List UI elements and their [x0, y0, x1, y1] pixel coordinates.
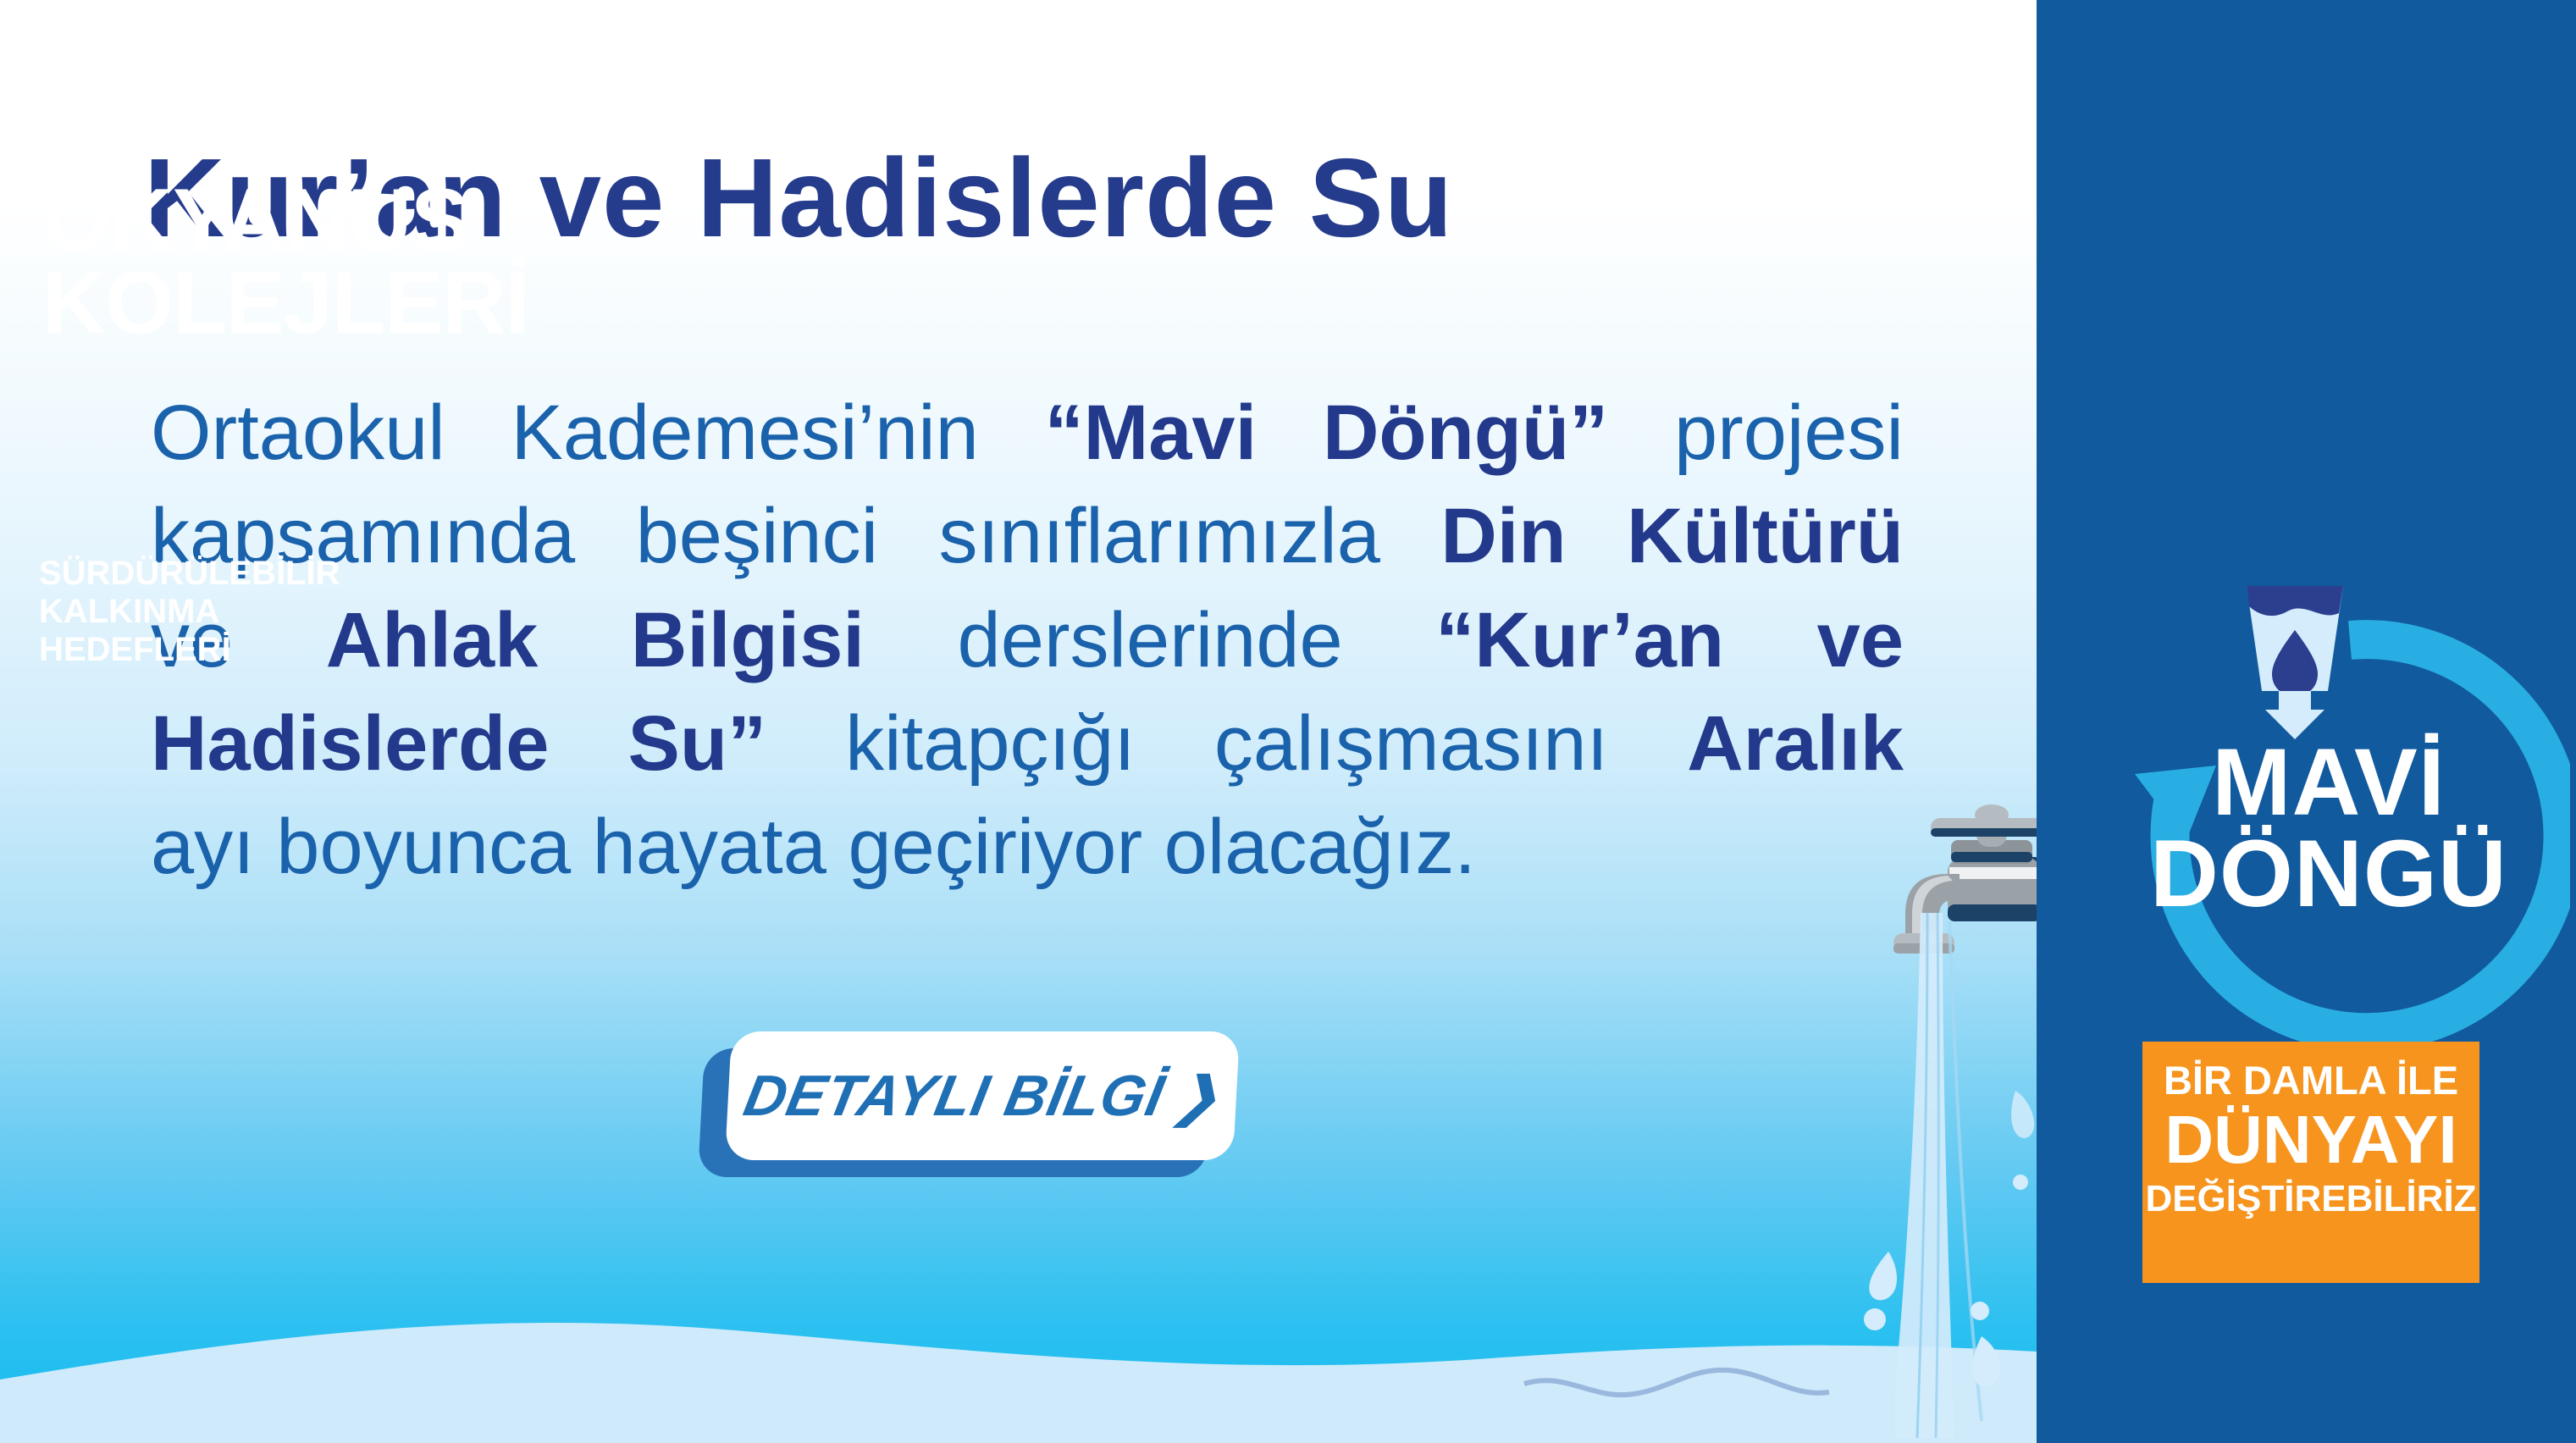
program-line-1: MAVİ — [2117, 737, 2540, 828]
slogan-line-1: BİR DAMLA İLE — [2142, 1059, 2479, 1103]
body-line-4: HadislerdeSu”kitapçığıçalışmasınıAralık — [151, 692, 1904, 795]
brand-line-2: KOLEJLERİ — [42, 263, 517, 346]
sdg-line-3: HEDEFLERİ — [39, 631, 340, 669]
slogan-badge: BİR DAMLA İLE DÜNYAYI DEĞİŞTİREBİLİRİZ — [2142, 1042, 2479, 1283]
cta-text: DETAYLI BİLGİ — [738, 1063, 1169, 1129]
sdg-line-2: KALKINMA — [39, 593, 340, 631]
chevron-right-icon: ❯ — [1169, 1065, 1225, 1127]
sdg-line-1: SÜRDÜRÜLEBİLİR — [39, 555, 340, 593]
water-stream-icon — [1855, 913, 2037, 1438]
wave-shape — [0, 1197, 2037, 1443]
description-text: OrtaokulKademesi’nin“MaviDöngü”projesi k… — [151, 381, 1904, 899]
sdg-label: SÜRDÜRÜLEBİLİR KALKINMA HEDEFLERİ — [39, 555, 340, 668]
body-line-3: veAhlakBilgisiderslerinde“Kur’anve — [151, 589, 1904, 692]
body-line-2: kapsamındabeşincisınıflarımızlaDinKültür… — [151, 484, 1904, 588]
slogan-line-3: DEĞİŞTİREBİLİRİZ — [2142, 1179, 2479, 1219]
promo-banner: Kur’an ve Hadislerde Su OrtaokulKademesi… — [0, 0, 2576, 1443]
cta-label-group: DETAYLI BİLGİ ❯ — [738, 1063, 1226, 1129]
body-line-5: ayı boyunca hayata geçiriyor olacağız. — [151, 795, 1904, 898]
program-wordmark: MAVİ DÖNGÜ — [2117, 737, 2540, 919]
cta-container: DETAYLI BİLGİ ❯ — [701, 1031, 1243, 1184]
glass-water-drop-icon — [2240, 583, 2350, 739]
body-line-1: OrtaokulKademesi’nin“MaviDöngü”projesi — [151, 381, 1904, 484]
program-line-2: DÖNGÜ — [2117, 828, 2540, 920]
detayli-bilgi-button[interactable]: DETAYLI BİLGİ ❯ — [725, 1031, 1240, 1160]
brand-logo: OKYANUS KOLEJLERİ — [42, 180, 517, 346]
slogan-line-2: DÜNYAYI — [2142, 1104, 2479, 1175]
